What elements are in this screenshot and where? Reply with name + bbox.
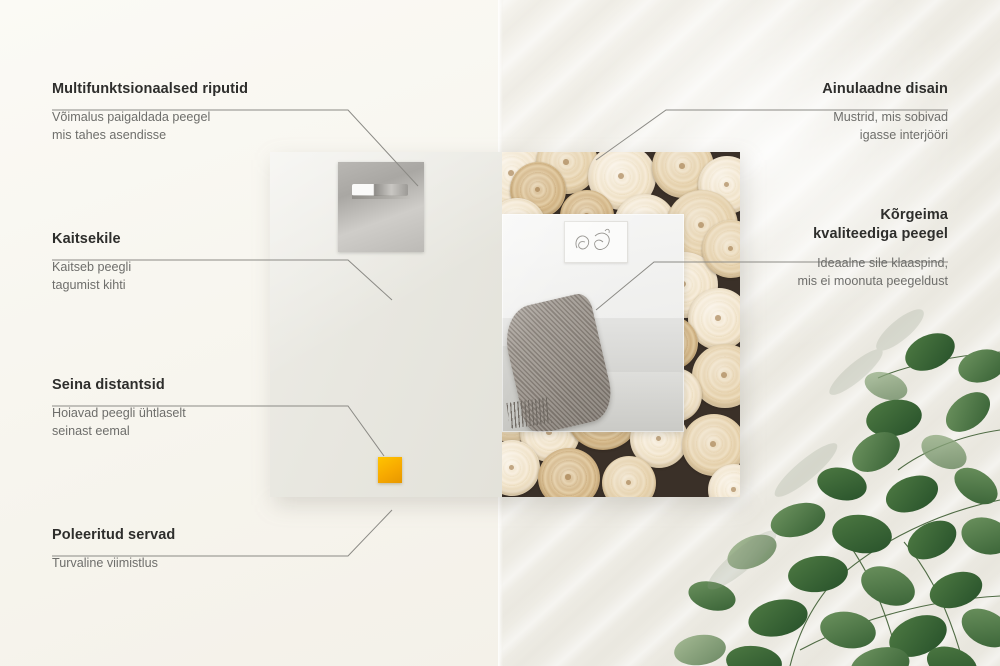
- callout-title: Poleeritud servad: [52, 526, 352, 545]
- callout-korgeima-kvaliteediga-peegel: Kõrgeima kvaliteediga peegel Ideaalne si…: [648, 206, 948, 291]
- callout-body: Mustrid, mis sobivad igasse interjööri: [648, 109, 948, 145]
- callout-ainulaadne-disain: Ainulaadne disain Mustrid, mis sobivad i…: [648, 80, 948, 145]
- callout-body: Võimalus paigaldada peegel mis tahes ase…: [52, 109, 352, 145]
- callout-poleeritud-servad: Poleeritud servad Turvaline viimistlus: [52, 526, 352, 573]
- callout-body: Ideaalne sile klaaspind, mis ei moonuta …: [648, 255, 948, 291]
- product-infographic: Multifunktsionaalsed riputid Võimalus pa…: [0, 0, 1000, 666]
- callout-kaitsekile: Kaitsekile Kaitseb peegli tagumist kihti: [52, 230, 352, 295]
- callout-title: Ainulaadne disain: [648, 80, 948, 99]
- callout-seina-distantsid: Seina distantsid Hoiavad peegli ühtlasel…: [52, 376, 352, 441]
- callout-body: Kaitseb peegli tagumist kihti: [52, 259, 352, 295]
- callout-title: Kaitsekile: [52, 230, 352, 249]
- callout-title: Seina distantsid: [52, 376, 352, 395]
- callout-body: Hoiavad peegli ühtlaselt seinast eemal: [52, 405, 352, 441]
- callout-body: Turvaline viimistlus: [52, 555, 352, 573]
- callout-multifunktsionaalsed-riputid: Multifunktsionaalsed riputid Võimalus pa…: [52, 80, 352, 145]
- callout-title: Kõrgeima kvaliteediga peegel: [648, 206, 948, 245]
- callout-title: Multifunktsionaalsed riputid: [52, 80, 352, 99]
